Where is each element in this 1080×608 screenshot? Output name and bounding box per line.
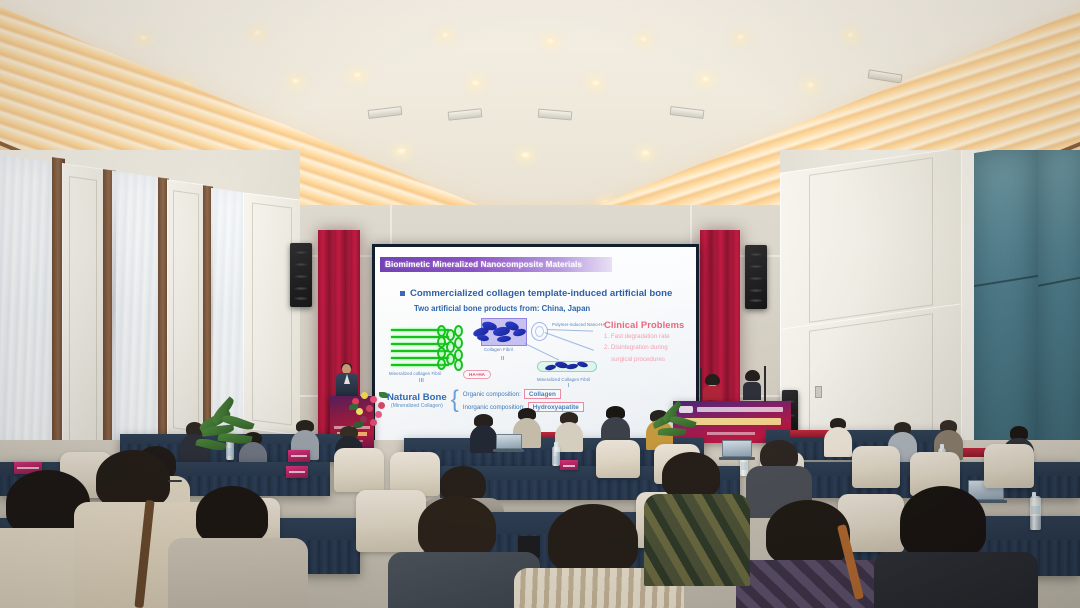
- slide-diagram: Polymer-induced Nano-HA Collagen Fibril …: [385, 321, 615, 391]
- person-torso: [644, 494, 750, 586]
- eyeglasses: [168, 480, 182, 482]
- ceiling-downlight: [545, 38, 556, 45]
- laptop-screen: [496, 434, 522, 449]
- banner-org-line: [697, 407, 783, 412]
- name-card-text: [563, 465, 575, 467]
- banquet-chair[interactable]: [852, 446, 900, 488]
- slide-bullet-text: Commercialized collagen template-induced…: [410, 288, 672, 299]
- person-hair: [196, 486, 268, 544]
- ceiling-downlight: [700, 76, 711, 83]
- banquet-chair[interactable]: [984, 444, 1034, 488]
- head-table-person-right: [743, 371, 761, 400]
- laptop-keyboard[interactable]: [493, 449, 524, 452]
- laptop[interactable]: [722, 440, 752, 460]
- line-array-speaker-right: [745, 245, 767, 309]
- flower: [378, 402, 385, 409]
- ceiling-downlight: [640, 150, 651, 157]
- ceiling-downlight: [396, 148, 407, 155]
- slide-bullet: Commercialized collagen template-induced…: [400, 288, 672, 299]
- banquet-chair[interactable]: [356, 490, 426, 552]
- person-torso: [168, 538, 308, 608]
- composition-label: Organic composition:: [463, 391, 521, 398]
- table-name-card: [286, 466, 308, 478]
- microphone-stand: [764, 366, 766, 402]
- nano-ha-particle: [454, 359, 463, 371]
- natural-bone-label: Natural Bone (Mineralized Collagen): [387, 392, 447, 409]
- diagram-pill-ha: HA+HA: [463, 370, 491, 379]
- diagram-label-polymer-nano-ha: Polymer-induced Nano-HA: [552, 322, 605, 327]
- person-hair: [766, 500, 850, 566]
- name-card-text: [17, 467, 39, 469]
- nano-ha-particle: [437, 358, 446, 370]
- clinical-problems-block: Clinical Problems 1. Fast degradation ra…: [604, 319, 696, 364]
- natural-bone-title: Natural Bone: [387, 392, 447, 403]
- diagram-leader-line: [525, 343, 560, 361]
- curly-brace-icon: {: [451, 392, 459, 409]
- water-bottle[interactable]: [552, 446, 560, 466]
- clinical-problem-item: 2. Disintegration during: [604, 344, 696, 352]
- laptop-screen: [722, 440, 752, 457]
- flower: [361, 392, 368, 399]
- person-torso: [874, 552, 1038, 608]
- ceiling-downlight: [470, 80, 481, 87]
- water-bottle[interactable]: [1030, 496, 1041, 530]
- foliage: [349, 404, 358, 410]
- banner-footer-line: [707, 432, 755, 435]
- ceiling-downlight: [520, 152, 531, 159]
- person-hair: [548, 504, 638, 574]
- window-bay: [112, 171, 160, 450]
- person-torso: [703, 386, 721, 400]
- collagen-fibril-blobs: [471, 321, 529, 347]
- potted-plant-stage: [652, 404, 698, 448]
- head-table-person-left: [703, 375, 721, 400]
- diagram-label-collagen-fibril: Collagen Fibril: [484, 347, 513, 352]
- ceiling-downlight: [805, 82, 816, 89]
- person-hair: [705, 374, 720, 385]
- flower: [370, 419, 377, 426]
- person-hair: [96, 450, 170, 508]
- flower: [370, 396, 377, 403]
- floral-arrangement: [348, 388, 388, 430]
- ceiling-downlight: [290, 78, 301, 85]
- plant-leaf: [658, 427, 686, 437]
- ceiling-downlight: [845, 32, 856, 39]
- ceiling-air-vent: [448, 108, 483, 121]
- teal-glass-partition: [974, 150, 1038, 480]
- laptop[interactable]: [496, 434, 522, 452]
- natural-bone-block: Natural Bone (Mineralized Collagen) { Or…: [387, 389, 627, 412]
- sheer-curtain-folds: [112, 171, 160, 450]
- mineralized-collagen-fibril-single: [537, 359, 609, 375]
- slide-title-text: Biomimetic Mineralized Nanocomposite Mat…: [380, 260, 582, 269]
- conference-hall-photo: Biomimetic Mineralized Nanocomposite Mat…: [0, 0, 1080, 608]
- ceiling-downlight: [252, 30, 263, 37]
- sheer-curtain-folds: [0, 153, 56, 462]
- window-bay: [0, 153, 56, 462]
- slide-subline-text: Two artificial bone products from: China…: [414, 304, 590, 313]
- wall-thermostat[interactable]: [815, 386, 822, 398]
- ceiling-downlight: [590, 80, 601, 87]
- name-card-text: [291, 455, 307, 457]
- person-torso: [743, 382, 761, 400]
- wall-panel: [62, 163, 104, 459]
- nano-ha-particle: [454, 337, 463, 349]
- bullet-square-icon: [400, 291, 405, 296]
- diagram-leader-line: [545, 332, 594, 351]
- ceiling-air-vent: [538, 109, 573, 121]
- nano-ha-particle: [454, 325, 463, 337]
- composition-label: Inorganic composition:: [463, 404, 525, 411]
- mineralized-collagen-fiber-group: [391, 327, 461, 367]
- diagram-label-mineralized-right: Mineralized Collagen Fibril: [537, 377, 590, 382]
- diagram-label-mineralized-left: Mineralized collagen Fibril: [389, 371, 441, 376]
- ceiling-air-vent: [670, 106, 705, 119]
- ceiling-air-vent: [868, 69, 903, 83]
- ceiling-air-vent: [368, 106, 403, 119]
- ceiling-downlight: [735, 34, 746, 41]
- composition-value: Hydroxyapatite: [528, 402, 584, 412]
- table-name-card: [288, 450, 310, 462]
- clinical-problems-heading: Clinical Problems: [604, 319, 696, 330]
- collagen-blob: [497, 335, 512, 342]
- ceiling-downlight: [138, 35, 149, 42]
- laptop-keyboard[interactable]: [719, 457, 755, 460]
- collagen-blob: [477, 334, 490, 342]
- microphone-stand: [700, 368, 702, 402]
- diagram-leader-line: [547, 329, 593, 332]
- clinical-problem-item: 1. Fast degradation rate: [604, 333, 696, 341]
- teal-glass-partition: [1038, 150, 1080, 480]
- slide-title-bar: Biomimetic Mineralized Nanocomposite Mat…: [380, 257, 612, 272]
- natural-bone-subtitle: (Mineralized Collagen): [387, 403, 447, 409]
- person-hair: [418, 496, 496, 558]
- person-torso: [824, 427, 852, 457]
- person-hair: [745, 370, 760, 381]
- diagram-numeral-iii: III: [419, 378, 424, 384]
- wall-panel: [780, 150, 962, 333]
- fiber-bundle-cluster: [437, 325, 463, 369]
- foliage: [379, 392, 388, 398]
- potted-plant-left: [196, 396, 258, 466]
- banquet-chair[interactable]: [334, 448, 384, 492]
- table-name-card: [560, 460, 578, 470]
- line-array-speaker-left: [290, 243, 312, 307]
- flower: [375, 411, 382, 418]
- clinical-problem-item: surgical procedures: [604, 356, 696, 364]
- flower: [356, 408, 363, 415]
- diagram-numeral-ii: II: [501, 356, 504, 362]
- name-card-text: [289, 471, 305, 473]
- person-hair: [662, 452, 720, 498]
- ceiling-downlight: [352, 72, 363, 79]
- flower: [366, 405, 373, 412]
- composition-row: Organic composition: Collagen: [463, 389, 584, 399]
- person-hair: [900, 486, 986, 558]
- banquet-chair[interactable]: [596, 440, 640, 478]
- clinical-problems-list: 1. Fast degradation rate 2. Disintegrati…: [604, 333, 696, 364]
- composition-value: Collagen: [524, 389, 561, 399]
- ceiling-downlight: [440, 32, 451, 39]
- ceiling-downlight: [638, 36, 649, 43]
